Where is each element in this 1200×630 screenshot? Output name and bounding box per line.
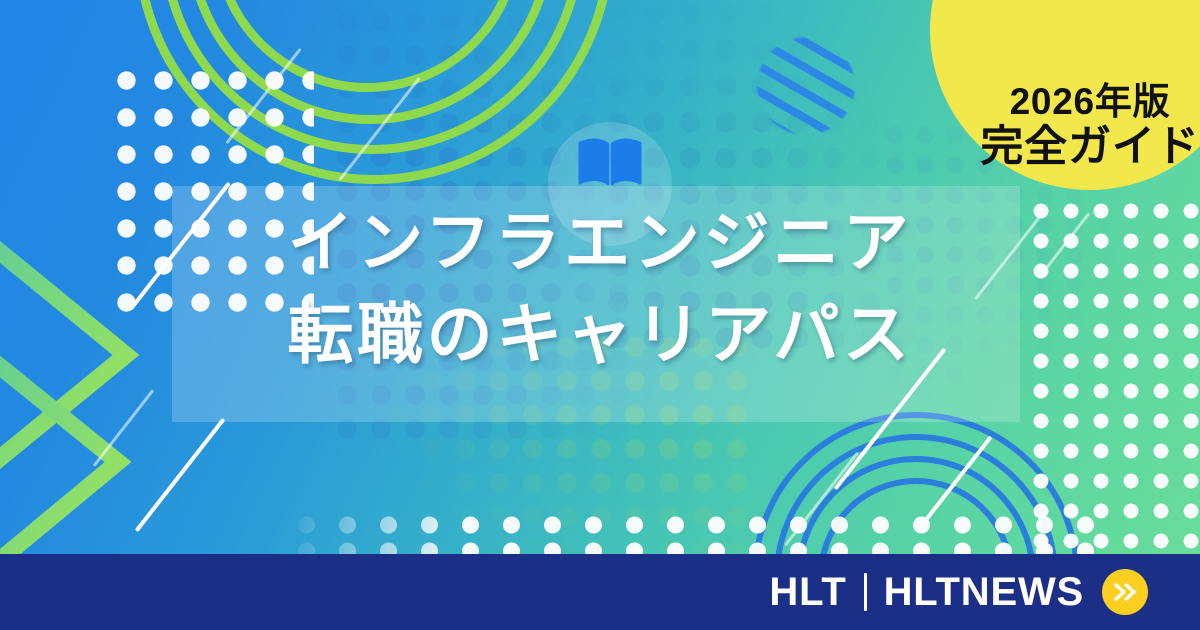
brand-secondary-label: HLTNEWS [884,570,1084,615]
striped-square-decoration [738,18,874,154]
page-title: インフラエンジニア 転職のキャリアパス [0,196,1200,381]
page-title-line-2: 転職のキャリアパス [0,288,1200,380]
diagonal-slash-9 [915,435,992,532]
diagonal-slash-8 [784,452,859,547]
guide-badge: 2026年版 完全ガイド [930,0,1200,190]
diagonal-slash-3 [338,77,420,181]
page-title-line-1: インフラエンジニア [0,196,1200,288]
dot-grid-bottom-band [286,512,1096,556]
double-chevron-right-icon[interactable] [1102,569,1148,615]
brand-lockup[interactable]: HLT HLTNEWS [769,569,1148,615]
green-arc-ring-4 [134,0,614,184]
brand-separator [864,573,867,611]
footer-bar: HLT HLTNEWS [0,554,1200,630]
brand-primary-label: HLT [769,570,846,615]
green-arc-ring-2 [186,0,554,124]
green-arc-ring-3 [160,0,584,154]
brand-text: HLT HLTNEWS [769,570,1084,615]
diagonal-slash-2 [225,48,301,144]
badge-year-label: 2026年版 [1010,81,1171,123]
open-book-icon [577,137,643,187]
og-card: 2026年版 完全ガイド インフラエンジニア 転職のキャリアパス HLT HLT… [0,0,1200,630]
green-arc-ring-1 [212,0,522,92]
diagonal-slash-4 [135,418,226,532]
badge-guide-label: 完全ガイド [980,123,1199,172]
diagonal-slash-5 [93,389,154,466]
